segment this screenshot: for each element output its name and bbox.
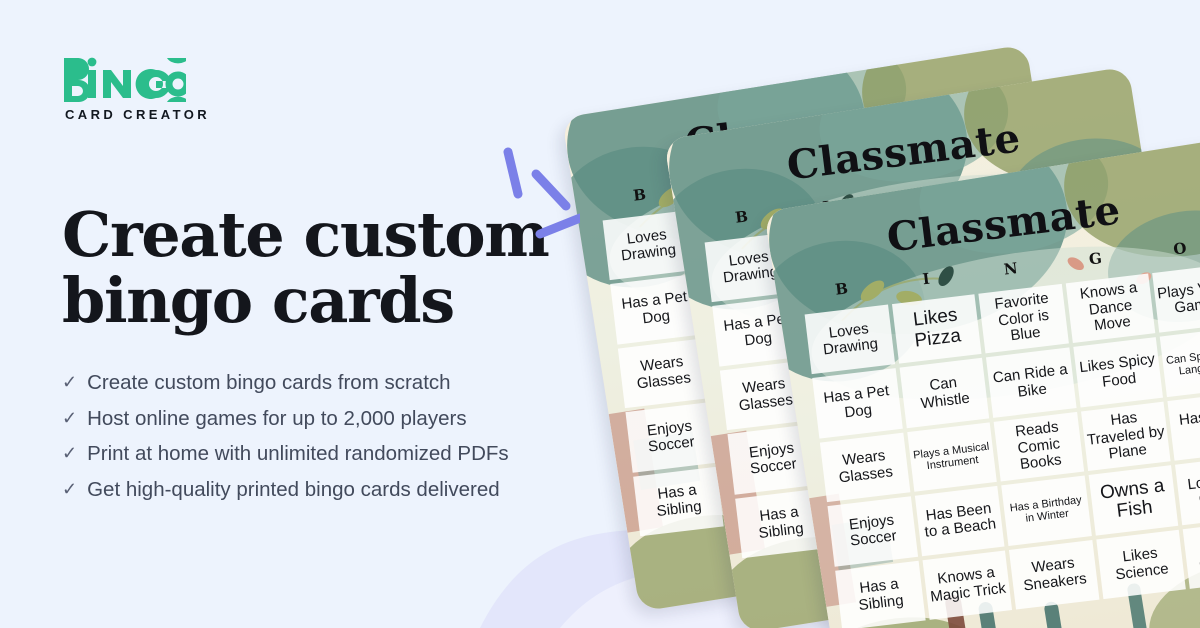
bingo-cell[interactable]: Wears Glasses (820, 432, 910, 502)
list-item-label: Create custom bingo cards from scratch (87, 373, 450, 394)
bingo-cell[interactable]: Reads Comic Books (994, 412, 1084, 482)
bingo-cell[interactable]: Enjoys Soccer (827, 496, 917, 566)
feature-bullet-list: ✓ Create custom bingo cards from scratch… (62, 373, 622, 500)
bingo-letter: G (1052, 245, 1139, 273)
bingo-cell[interactable]: Knows a Dance Move (1066, 273, 1156, 343)
bingo-grid: Loves DrawingLikes PizzaFavorite Color i… (805, 263, 1200, 628)
list-item: ✓ Host online games for up to 2,000 play… (62, 409, 622, 430)
bingo-cell[interactable]: Wears Sneakers (1009, 540, 1099, 610)
bingo-cell[interactable]: Owns a Fish (1088, 465, 1178, 535)
headline-line-1: Create custom (62, 198, 548, 271)
bingo-wordmark-icon (62, 52, 186, 104)
bingo-cell[interactable]: Enjoys Camping (1183, 519, 1200, 589)
bingo-cell[interactable]: Enjoys Soccer (625, 402, 715, 472)
check-icon: ✓ (62, 373, 77, 391)
check-icon: ✓ (62, 444, 77, 462)
bingo-cell[interactable]: Has a Sibling (835, 560, 925, 628)
bingo-cell[interactable]: Likes Spicy Food (1073, 337, 1163, 407)
list-item: ✓ Print at home with unlimited randomize… (62, 444, 622, 465)
bingo-cell[interactable]: Has a Sibling (633, 466, 723, 536)
bingo-cell[interactable]: Favorite Color is Blue (979, 284, 1069, 354)
bingo-cell[interactable]: Can Speak Two Languages (1160, 327, 1200, 397)
headline-line-2: bingo cards (62, 264, 454, 337)
bingo-cell[interactable]: Wears Glasses (618, 338, 708, 408)
bingo-letter: O (1137, 235, 1200, 263)
list-item-label: Host online games for up to 2,000 player… (87, 409, 466, 430)
check-icon: ✓ (62, 480, 77, 498)
bingo-cell[interactable]: Has a Birthday in Winter (1001, 476, 1091, 546)
list-item-label: Get high-quality printed bingo cards del… (87, 480, 500, 501)
bingo-cell[interactable]: Loves Drawing (805, 305, 895, 375)
bingo-cell[interactable]: Has Been to a Beach (914, 486, 1004, 556)
bingo-cell[interactable]: Knows a Magic Trick (922, 550, 1012, 620)
hero-left-column: CARD CREATOR Create custom bingo cards ✓… (62, 52, 622, 515)
bingo-card-front[interactable]: Classmate B I N G O Loves DrawingLikes P… (764, 138, 1200, 628)
list-item: ✓ Get high-quality printed bingo cards d… (62, 480, 622, 501)
bingo-cell[interactable]: Can Ride a Bike (986, 348, 1076, 418)
bingo-cell[interactable]: Has a Pet Dog (812, 369, 902, 439)
bingo-letter: I (883, 265, 970, 293)
check-icon: ✓ (62, 409, 77, 427)
bingo-card-creator-logo[interactable]: CARD CREATOR (62, 52, 242, 136)
bingo-cell[interactable]: Has Traveled by Plane (1081, 401, 1171, 471)
logo-subtitle: CARD CREATOR (65, 107, 242, 122)
list-item: ✓ Create custom bingo cards from scratch (62, 373, 622, 394)
bingo-cell[interactable]: Can Whistle (899, 358, 989, 428)
bingo-letter: B (798, 275, 885, 303)
bingo-cell[interactable]: Likes Science (1096, 529, 1186, 599)
bingo-cell[interactable]: Likes Pizza (892, 294, 982, 364)
bingo-cell[interactable]: Plays a Musical Instrument (907, 422, 997, 492)
bingo-letter: N (967, 255, 1054, 283)
bingo-cell[interactable]: Has Curly Hair (1168, 391, 1200, 461)
sparkle-decoration (484, 138, 580, 250)
bingo-cell[interactable]: Loves Ice Cream (1175, 455, 1200, 525)
list-item-label: Print at home with unlimited randomized … (87, 444, 509, 465)
bingo-cell[interactable]: Plays Video Games (1153, 263, 1200, 333)
